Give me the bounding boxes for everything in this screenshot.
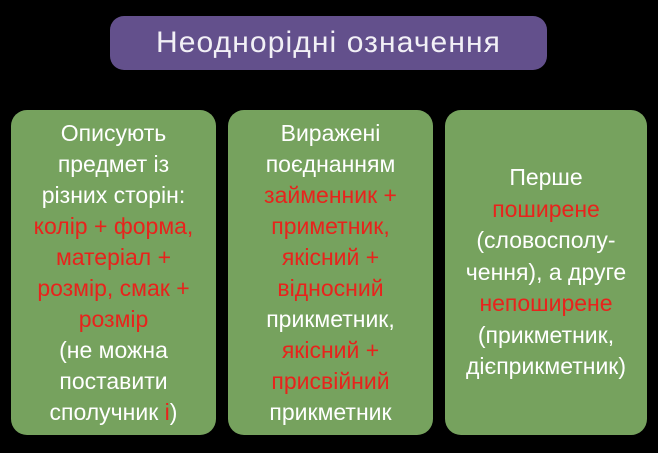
- card-line: (прикметник,: [451, 320, 641, 352]
- highlighted-term: відносний: [277, 275, 383, 301]
- card-line: матеріал +: [17, 242, 210, 273]
- plain-text: поставити: [59, 368, 167, 394]
- card-line: поєднанням: [234, 149, 427, 180]
- card-line: Описують: [17, 118, 210, 149]
- card-line: розмір, смак +: [17, 273, 210, 304]
- card-text-block: Описуютьпредмет ізрізних сторін:колір + …: [17, 118, 210, 428]
- card-line: різних сторін:: [17, 180, 210, 211]
- title-banner: Неоднорідні означення: [110, 16, 547, 70]
- plain-text: предмет із: [58, 151, 169, 177]
- card-line: (словосполу-: [451, 225, 641, 257]
- card-line: (не можна: [17, 335, 210, 366]
- highlighted-term: якісний +: [282, 337, 379, 363]
- info-card-first-extended-second-not: Першепоширене(словосполу-чення), а друге…: [445, 110, 647, 435]
- card-line: якісний +: [234, 335, 427, 366]
- card-line: дієприкметник): [451, 351, 641, 383]
- card-line: сполучник і): [17, 397, 210, 428]
- plain-text: Описують: [61, 120, 166, 146]
- card-line: чення), а друге: [451, 257, 641, 289]
- card-text-block: Першепоширене(словосполу-чення), а друге…: [451, 162, 641, 383]
- plain-text: (словосполу-: [476, 227, 615, 253]
- highlighted-term: приметник,: [271, 213, 389, 239]
- plain-text: ): [170, 399, 178, 425]
- info-card-expressed-by-combination: Вираженіпоєднаннямзайменник +приметник,я…: [228, 110, 433, 435]
- cards-row: Описуютьпредмет ізрізних сторін:колір + …: [11, 110, 647, 435]
- card-line: колір + форма,: [17, 211, 210, 242]
- card-line: якісний +: [234, 242, 427, 273]
- plain-text: сполучник: [50, 399, 165, 425]
- highlighted-term: поширене: [492, 196, 600, 222]
- card-text-block: Вираженіпоєднаннямзайменник +приметник,я…: [234, 118, 427, 428]
- card-line: прикметник: [234, 397, 427, 428]
- card-line: присвійний: [234, 366, 427, 397]
- card-line: поширене: [451, 194, 641, 226]
- card-line: Перше: [451, 162, 641, 194]
- highlighted-term: займенник +: [264, 182, 397, 208]
- info-card-describe-object: Описуютьпредмет ізрізних сторін:колір + …: [11, 110, 216, 435]
- highlighted-term: матеріал +: [56, 244, 171, 270]
- plain-text: чення), а друге: [466, 259, 626, 285]
- plain-text: Перше: [509, 164, 582, 190]
- plain-text: поєднанням: [266, 151, 396, 177]
- page-title: Неоднорідні означення: [156, 28, 501, 58]
- plain-text: різних сторін:: [42, 182, 185, 208]
- card-line: поставити: [17, 366, 210, 397]
- highlighted-term: непоширене: [479, 290, 612, 316]
- plain-text: (прикметник,: [478, 322, 614, 348]
- card-line: приметник,: [234, 211, 427, 242]
- plain-text: (не можна: [59, 337, 168, 363]
- card-line: Виражені: [234, 118, 427, 149]
- highlighted-term: колір + форма,: [34, 213, 194, 239]
- card-line: займенник +: [234, 180, 427, 211]
- highlighted-term: розмір, смак +: [37, 275, 189, 301]
- card-line: предмет із: [17, 149, 210, 180]
- highlighted-term: присвійний: [271, 368, 389, 394]
- card-line: непоширене: [451, 288, 641, 320]
- plain-text: Виражені: [281, 120, 381, 146]
- card-line: розмір: [17, 304, 210, 335]
- slide-canvas: Неоднорідні означення Описуютьпредмет із…: [0, 0, 658, 453]
- card-line: прикметник,: [234, 304, 427, 335]
- card-line: відносний: [234, 273, 427, 304]
- highlighted-term: розмір: [79, 306, 149, 332]
- plain-text: прикметник,: [266, 306, 395, 332]
- plain-text: дієприкметник): [466, 353, 626, 379]
- plain-text: прикметник: [269, 399, 391, 425]
- highlighted-term: якісний +: [282, 244, 379, 270]
